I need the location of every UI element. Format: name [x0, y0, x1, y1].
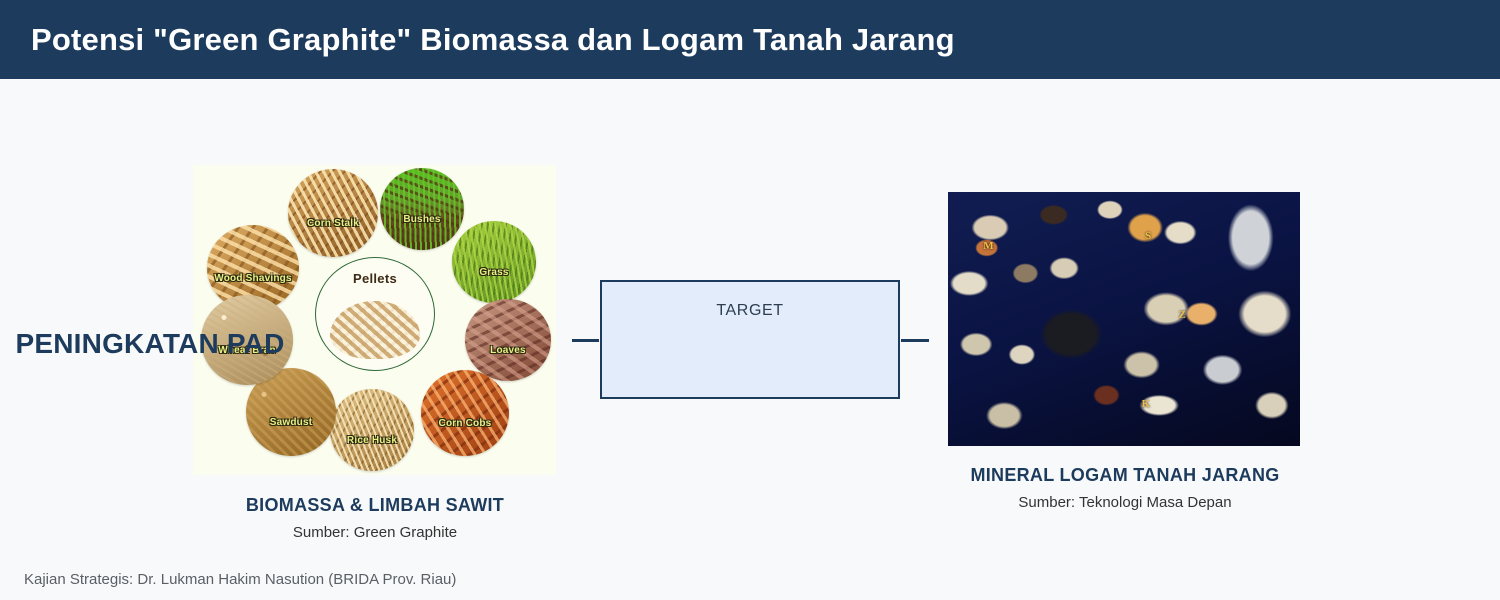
biomass-label-pellets: Pellets [316, 271, 434, 286]
content-stage: Wood Shavings Corn Stalk Bushes Grass Lo… [0, 79, 1500, 600]
biomass-circle-grass: Grass [452, 221, 536, 303]
target-label: TARGET [602, 302, 898, 320]
mineral-tag-z: Z [1179, 309, 1186, 321]
footer-note: Kajian Strategis: Dr. Lukman Hakim Nasut… [24, 571, 456, 588]
biomass-caption: BIOMASSA & LIMBAH SAWIT Sumber: Green Gr… [175, 494, 575, 542]
mineral-tag-s: S [1145, 230, 1151, 242]
biomass-label-sawdust: Sawdust [270, 417, 313, 428]
mineral-tag-m: M [983, 240, 993, 252]
biomass-label-grass: Grass [479, 267, 508, 278]
mineral-image: M S Z K [948, 192, 1300, 446]
biomass-label-bushes: Bushes [403, 214, 440, 225]
biomass-label-corn-cobs: Corn Cobs [439, 418, 492, 429]
page-header: Potensi "Green Graphite" Biomassa dan Lo… [0, 0, 1500, 79]
biomass-label-corn-stalk: Corn Stalk [307, 218, 359, 229]
biomass-circle-bushes: Bushes [380, 168, 464, 250]
target-value: PENINGKATAN PAD [0, 328, 410, 360]
biomass-image: Wood Shavings Corn Stalk Bushes Grass Lo… [193, 165, 556, 475]
mineral-caption-source: Sumber: Teknologi Masa Depan [924, 494, 1326, 513]
biomass-circle-corn-stalk: Corn Stalk [288, 169, 378, 257]
target-box: TARGET [600, 280, 900, 399]
biomass-label-rice-husk: Rice Husk [347, 435, 397, 446]
connector-line-right [901, 339, 929, 342]
mineral-caption-title: MINERAL LOGAM TANAH JARANG [924, 464, 1326, 487]
biomass-caption-title: BIOMASSA & LIMBAH SAWIT [175, 494, 575, 517]
mineral-caption: MINERAL LOGAM TANAH JARANG Sumber: Tekno… [924, 464, 1326, 512]
biomass-circle-corn-cobs: Corn Cobs [421, 370, 509, 456]
connector-line-left [572, 339, 599, 342]
biomass-caption-source: Sumber: Green Graphite [175, 524, 575, 543]
mineral-tag-k: K [1142, 398, 1151, 410]
biomass-circle-rice-husk: Rice Husk [330, 389, 414, 471]
biomass-label-leaves: Loaves [490, 345, 526, 356]
page-title: Potensi "Green Graphite" Biomassa dan Lo… [31, 22, 955, 58]
biomass-label-wood-shavings: Wood Shavings [214, 273, 291, 284]
biomass-circle-leaves: Loaves [465, 299, 551, 381]
